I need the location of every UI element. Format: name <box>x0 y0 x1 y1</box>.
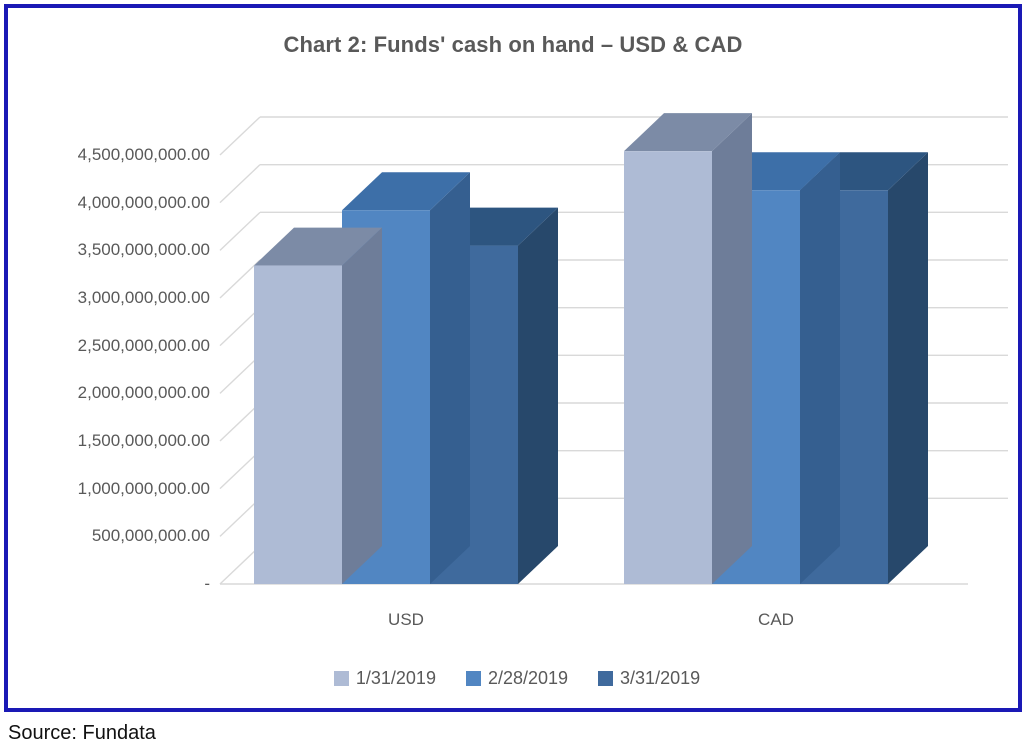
bar-side-face <box>518 208 558 584</box>
chart-screenshot: Chart 2: Funds' cash on hand – USD & CAD… <box>0 0 1030 752</box>
bar-front-face <box>254 266 342 584</box>
x-axis-labels: USDCAD <box>8 610 1026 640</box>
bar-front-face <box>624 151 712 584</box>
bar-side-face <box>800 152 840 584</box>
x-axis-tick-label: USD <box>388 610 424 630</box>
legend-item-3-31-2019[interactable]: 3/31/2019 <box>598 668 700 689</box>
legend-swatch-icon <box>598 671 613 686</box>
legend-swatch-icon <box>334 671 349 686</box>
bar-side-face <box>430 172 470 584</box>
bar-side-face <box>888 152 928 584</box>
legend-label: 2/28/2019 <box>488 668 568 689</box>
x-axis-tick-label: CAD <box>758 610 794 630</box>
legend-label: 3/31/2019 <box>620 668 700 689</box>
bar-side-face <box>342 228 382 584</box>
bar-usd-1-31-2019 <box>254 8 342 584</box>
bar-series-group <box>8 8 1026 708</box>
plot-area: -500,000,000.001,000,000,000.001,500,000… <box>8 8 1026 708</box>
legend-item-2-28-2019[interactable]: 2/28/2019 <box>466 668 568 689</box>
legend-swatch-icon <box>466 671 481 686</box>
chart-legend: 1/31/20192/28/20193/31/2019 <box>8 668 1026 689</box>
bar-cad-1-31-2019 <box>624 8 712 584</box>
source-caption: Source: Fundata <box>8 722 156 745</box>
legend-label: 1/31/2019 <box>356 668 436 689</box>
bar-side-face <box>712 113 752 584</box>
chart-frame: Chart 2: Funds' cash on hand – USD & CAD… <box>4 4 1022 712</box>
legend-item-1-31-2019[interactable]: 1/31/2019 <box>334 668 436 689</box>
